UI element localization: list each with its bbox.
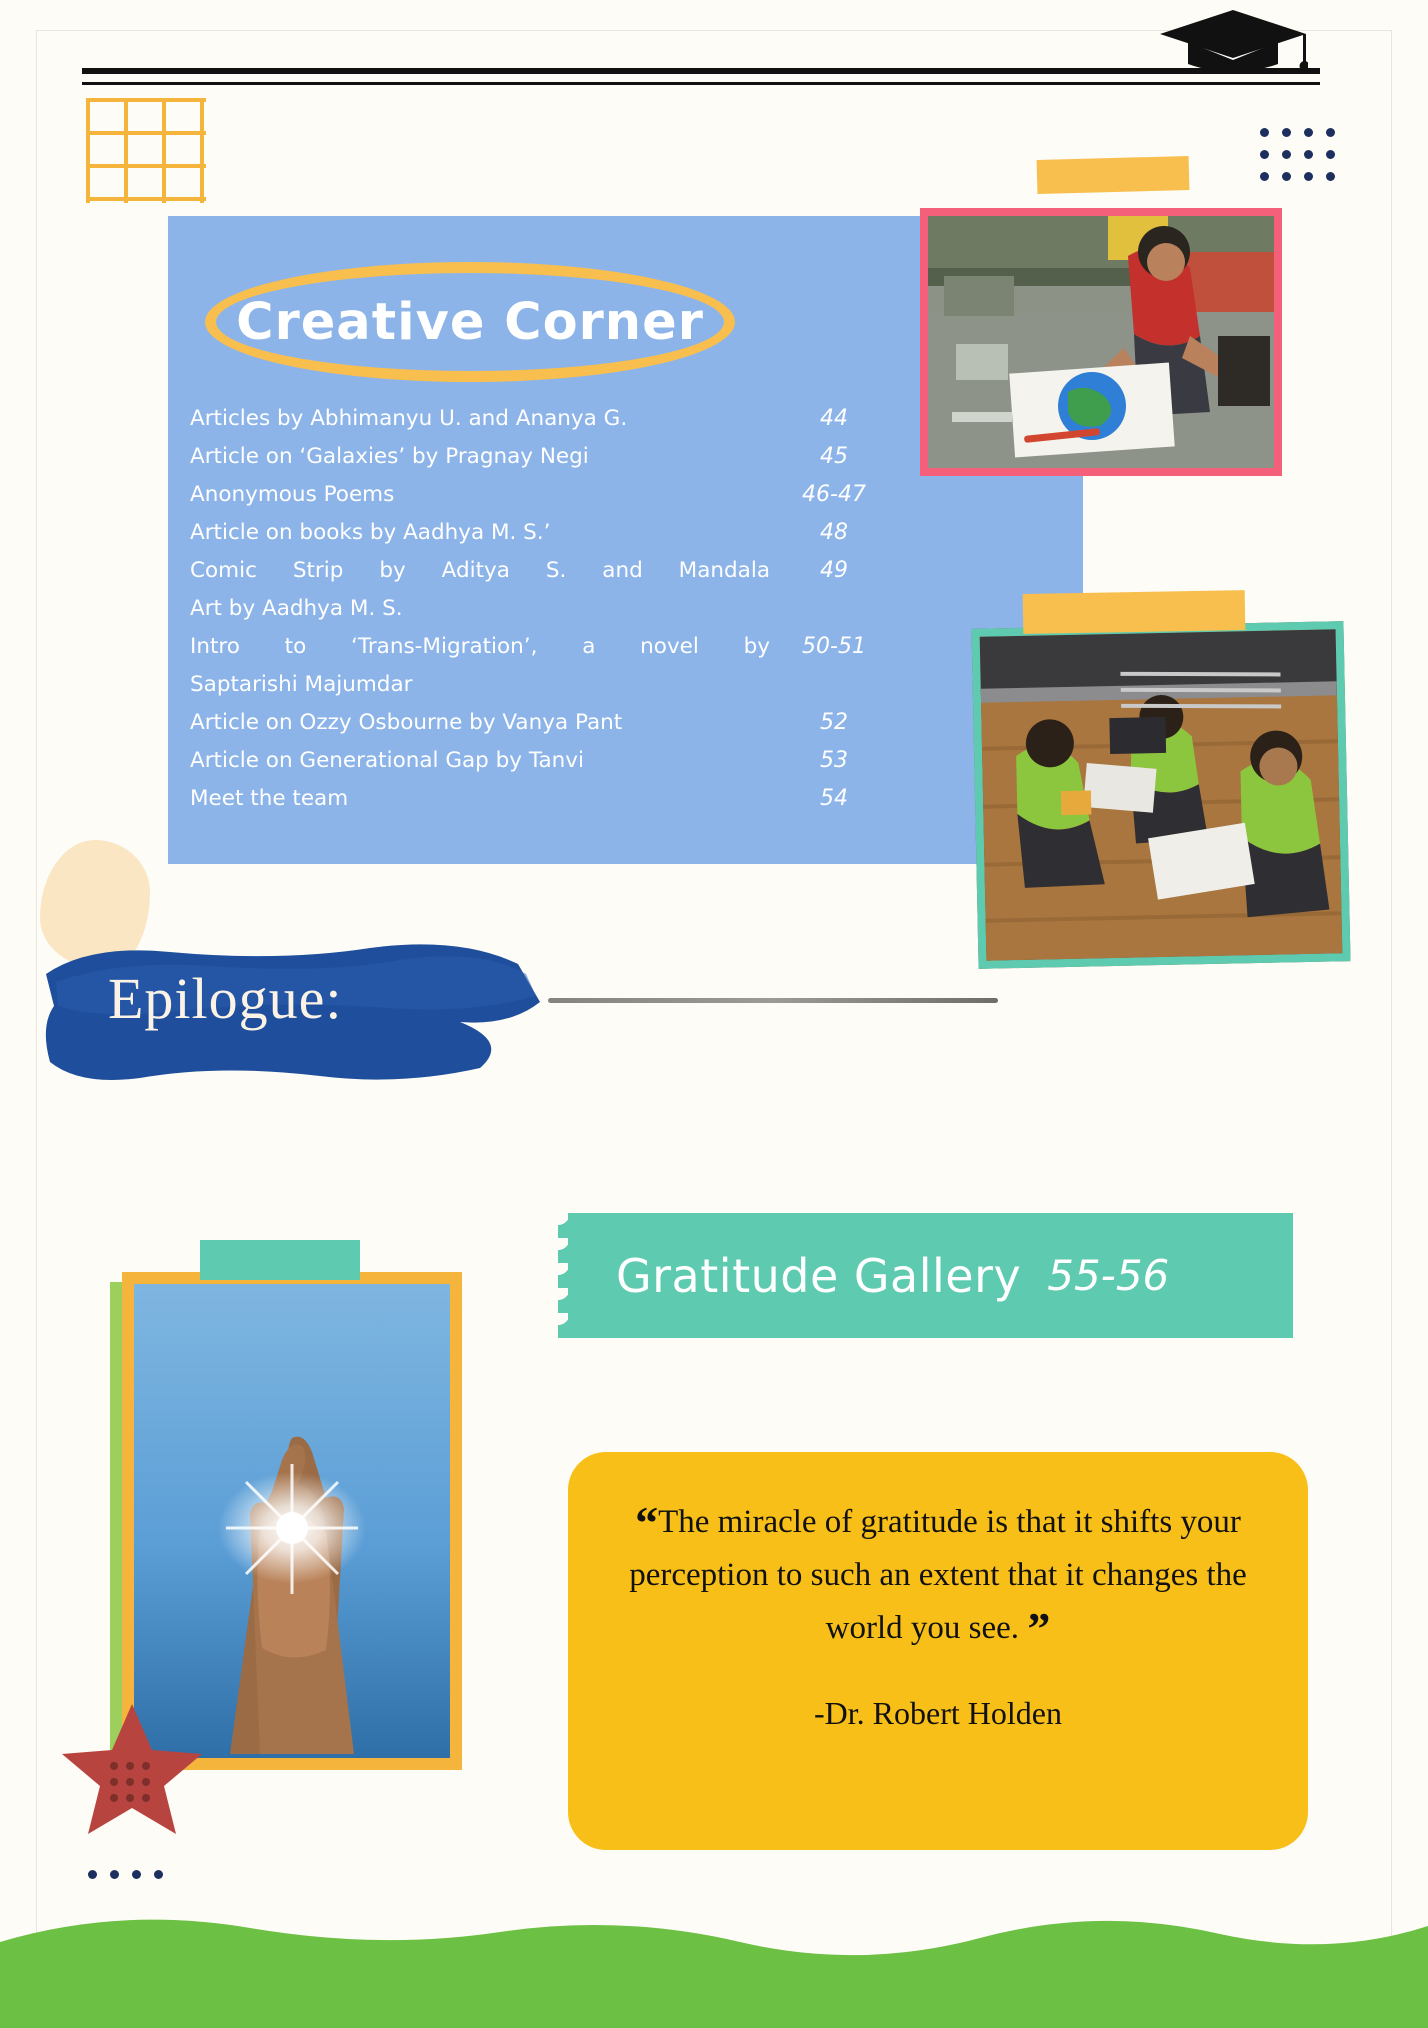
toc-entry-label: Art by Aadhya M. S. [190, 590, 788, 628]
tape-photo3 [200, 1240, 360, 1280]
toc-entry-page: 46-47 [788, 476, 880, 514]
tape-photo2 [1023, 590, 1246, 634]
toc-row[interactable]: Article on ‘Galaxies’ by Pragnay Negi45 [190, 438, 880, 476]
toc-entry-label: Article on ‘Galaxies’ by Pragnay Negi [190, 438, 788, 476]
toc-entry-page: 54 [788, 780, 880, 818]
toc-row[interactable]: Articles by Abhimanyu U. and Ananya G.44 [190, 400, 880, 438]
toc-entry-label: Articles by Abhimanyu U. and Ananya G. [190, 400, 788, 438]
toc-row[interactable]: Intro to ‘Trans-Migration’, a novel by50… [190, 628, 880, 666]
quote-author: -Dr. Robert Holden [620, 1695, 1256, 1732]
header-rule-thin [82, 82, 1320, 85]
graduation-cap-icon [1158, 8, 1308, 74]
toc-entry-page: 48 [788, 514, 880, 552]
tape-photo1 [1037, 156, 1190, 194]
students-drawing-on-floor-photo [971, 621, 1350, 969]
open-hands-sunlight-photo [122, 1272, 462, 1770]
quote-text-wrap: “The miracle of gratitude is that it shi… [620, 1496, 1256, 1655]
gratitude-quote-card: “The miracle of gratitude is that it shi… [568, 1452, 1308, 1850]
dot-grid-bottom-left [88, 1870, 163, 1879]
toc-entry-page: 45 [788, 438, 880, 476]
toc-entry-label: Anonymous Poems [190, 476, 788, 514]
toc-row[interactable]: Comic Strip by Aditya S. and Mandala49 [190, 552, 880, 590]
toc-entry-label: Article on books by Aadhya M. S.’ [190, 514, 788, 552]
toc-entry-label: Saptarishi Majumdar [190, 666, 788, 704]
quote-text: The miracle of gratitude is that it shif… [629, 1504, 1247, 1646]
toc-row[interactable]: Article on Ozzy Osbourne by Vanya Pant52 [190, 704, 880, 742]
toc-row[interactable]: Saptarishi Majumdar [190, 666, 880, 704]
toc-row[interactable]: Article on Generational Gap by Tanvi53 [190, 742, 880, 780]
toc-entry-label: Comic Strip by Aditya S. and Mandala [190, 552, 788, 590]
toc-row[interactable]: Article on books by Aadhya M. S.’48 [190, 514, 880, 552]
epilogue-divider-line [548, 998, 998, 1003]
table-of-contents: Articles by Abhimanyu U. and Ananya G.44… [190, 400, 880, 818]
creative-corner-title-wrap: Creative Corner [205, 262, 735, 382]
bottom-green-wave [0, 1898, 1428, 2028]
toc-entry-label: Article on Ozzy Osbourne by Vanya Pant [190, 704, 788, 742]
close-quote-icon: ” [1027, 1603, 1050, 1654]
toc-entry-label: Intro to ‘Trans-Migration’, a novel by [190, 628, 788, 666]
toc-entry-label: Article on Generational Gap by Tanvi [190, 742, 788, 780]
toc-entry-page: 53 [788, 742, 880, 780]
header-rule-thick [82, 68, 1320, 74]
student-painting-earth-photo [920, 208, 1282, 476]
gratitude-gallery-title: Gratitude Gallery [616, 1249, 1021, 1303]
open-quote-icon: “ [635, 1497, 658, 1548]
toc-entry-label: Meet the team [190, 780, 788, 818]
dot-grid-top-right [1260, 128, 1335, 181]
toc-row[interactable]: Art by Aadhya M. S. [190, 590, 880, 628]
toc-entry-page: 44 [788, 400, 880, 438]
epilogue-title: Epilogue: [108, 965, 343, 1032]
toc-row[interactable]: Meet the team54 [190, 780, 880, 818]
gratitude-gallery-banner: Gratitude Gallery 55-56 [568, 1213, 1293, 1338]
star-decoration [62, 1700, 202, 1838]
toc-entry-page: 50-51 [788, 628, 880, 666]
toc-entry-page: 52 [788, 704, 880, 742]
grid-decoration [86, 98, 206, 203]
toc-row[interactable]: Anonymous Poems46-47 [190, 476, 880, 514]
toc-entry-page: 49 [788, 552, 880, 590]
gratitude-gallery-pages: 55-56 [1047, 1251, 1169, 1300]
creative-corner-title: Creative Corner [205, 262, 735, 382]
